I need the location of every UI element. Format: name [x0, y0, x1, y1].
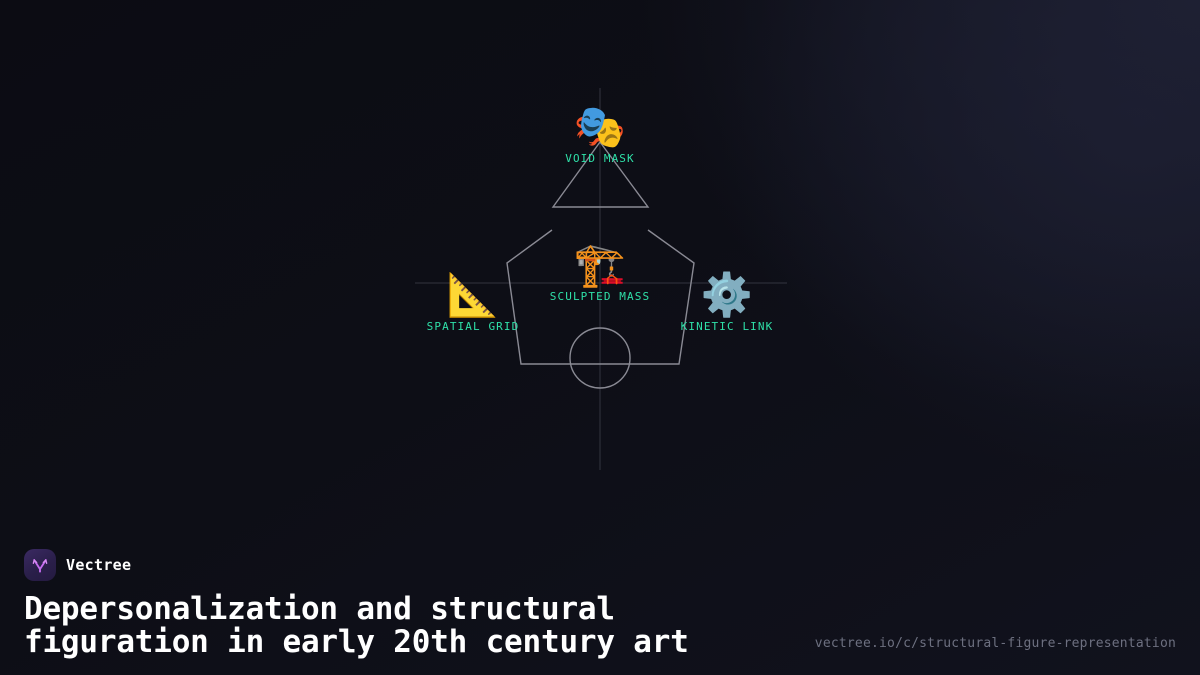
diagram-node-label: VOID MASK — [565, 152, 635, 165]
diagram-node-void-mask[interactable]: 🎭 VOID MASK — [565, 104, 635, 165]
diagram-node-sculpted-mass[interactable]: 🏗️ SCULPTED MASS — [550, 242, 650, 303]
footer: Vectree Depersonalization and structural… — [0, 549, 1200, 675]
diagram-node-kinetic-link[interactable]: ⚙️ KINETIC LINK — [681, 272, 774, 333]
source-url: vectree.io/c/structural-figure-represent… — [815, 636, 1176, 651]
triangular-ruler-icon: 📐 — [447, 272, 499, 318]
slide-canvas: 🎭 VOID MASK 🏗️ SCULPTED MASS 📐 SPATIAL G… — [0, 0, 1200, 675]
vectree-logo-icon — [24, 549, 56, 581]
brand-lockup[interactable]: Vectree — [24, 549, 1176, 581]
diagram-node-spatial-grid[interactable]: 📐 SPATIAL GRID — [427, 272, 520, 333]
diagram-canvas: 🎭 VOID MASK 🏗️ SCULPTED MASS 📐 SPATIAL G… — [0, 0, 1200, 500]
construction-crane-icon: 🏗️ — [574, 242, 626, 288]
diagram-node-label: SPATIAL GRID — [427, 320, 520, 333]
brand-name: Vectree — [66, 556, 131, 574]
diagram-node-label: KINETIC LINK — [681, 320, 774, 333]
gear-icon: ⚙️ — [701, 272, 753, 318]
page-title: Depersonalization and structural figurat… — [24, 593, 744, 659]
diagram-node-label: SCULPTED MASS — [550, 290, 650, 303]
performing-arts-masks-icon: 🎭 — [574, 104, 626, 150]
